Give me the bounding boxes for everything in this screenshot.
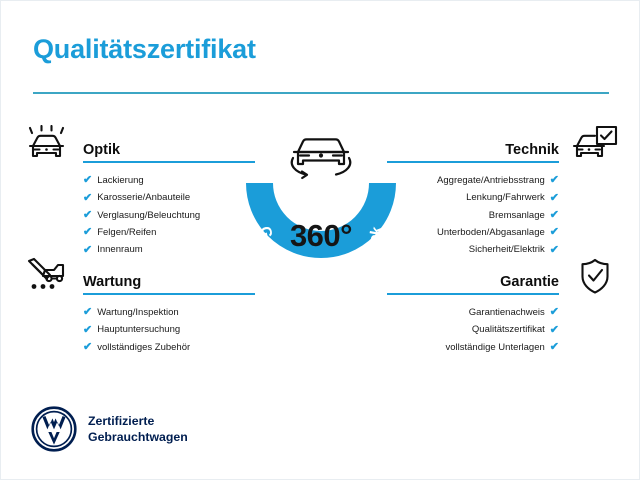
item-label: Lackierung <box>97 176 143 186</box>
list-item: ✔ Sicherheit/Elektrik <box>387 242 559 259</box>
list-item: ✔ Karosserie/Anbauteile <box>83 189 255 206</box>
item-label: Unterboden/Abgasanlage <box>437 228 545 238</box>
list-item: ✔ Aggregate/Antriebsstrang <box>387 172 559 189</box>
item-label: vollständiges Zubehör <box>97 343 190 353</box>
item-label: Lenkung/Fahrwerk <box>466 193 545 203</box>
checklist-technik: ✔ Aggregate/Antriebsstrang ✔ Lenkung/Fah… <box>387 172 619 259</box>
check-icon: ✔ <box>83 193 92 204</box>
section-divider-optik <box>83 161 255 163</box>
section-divider-technik <box>387 161 559 163</box>
check-icon: ✔ <box>550 210 559 221</box>
footer-line-1: Zertifizierte <box>88 413 188 429</box>
section-technik: Technik ✔ Aggregate/Antriebsstrang ✔ Len… <box>387 131 619 259</box>
item-label: Bremsanlage <box>489 211 545 221</box>
item-label: Innenraum <box>97 245 142 255</box>
check-icon: ✔ <box>550 227 559 238</box>
header-divider <box>33 92 609 94</box>
section-header-technik: Technik <box>387 131 619 165</box>
list-item: ✔ Qualitätszertifikat <box>387 321 559 338</box>
check-icon: ✔ <box>550 175 559 186</box>
check-icon: ✔ <box>83 307 92 318</box>
car-rotation-icon <box>292 139 350 178</box>
item-label: Garantienachweis <box>469 308 545 318</box>
section-title-technik: Technik <box>505 142 559 158</box>
section-garantie: Garantie ✔ Garantienachweis ✔ Qualitätsz… <box>387 263 619 356</box>
list-item: ✔ vollständiges Zubehör <box>83 339 255 356</box>
check-icon: ✔ <box>550 307 559 318</box>
item-label: Wartung/Inspektion <box>97 308 179 318</box>
section-wartung: Wartung ✔ Wartung/Inspektion ✔ Hauptunte… <box>23 263 255 356</box>
checklist-garantie: ✔ Garantienachweis ✔ Qualitätszertifikat… <box>387 304 619 356</box>
certificate-page: Qualitätszertifikat Optik <box>0 0 640 480</box>
section-title-wartung: Wartung <box>83 274 141 290</box>
list-item: ✔ Garantienachweis <box>387 304 559 321</box>
item-label: vollständige Unterlagen <box>445 343 544 353</box>
car-service-pen-icon <box>23 257 71 297</box>
list-item: ✔ Hauptuntersuchung <box>83 321 255 338</box>
check-icon: ✔ <box>83 325 92 336</box>
check-icon: ✔ <box>83 342 92 353</box>
item-label: Karosserie/Anbauteile <box>97 193 190 203</box>
checklist-optik: ✔ Lackierung ✔ Karosserie/Anbauteile ✔ V… <box>23 172 255 259</box>
shield-check-icon <box>571 257 619 297</box>
section-divider-wartung <box>83 293 255 295</box>
check-icon: ✔ <box>83 245 92 256</box>
check-icon: ✔ <box>83 210 92 221</box>
badge-360-check: Gebrauchtwagen-Check 360° <box>236 121 406 306</box>
checklist-wartung: ✔ Wartung/Inspektion ✔ Hauptuntersuchung… <box>23 304 255 356</box>
check-icon: ✔ <box>550 325 559 336</box>
item-label: Verglasung/Beleuchtung <box>97 211 200 221</box>
footer-line-2: Gebrauchtwagen <box>88 429 188 445</box>
section-header-optik: Optik <box>23 131 255 165</box>
list-item: ✔ Innenraum <box>83 242 255 259</box>
section-title-garantie: Garantie <box>500 274 559 290</box>
check-icon: ✔ <box>550 245 559 256</box>
list-item: ✔ Felgen/Reifen <box>83 224 255 241</box>
footer-brand: Zertifizierte Gebrauchtwagen <box>31 406 188 452</box>
car-shine-icon <box>23 125 71 165</box>
item-label: Sicherheit/Elektrik <box>469 245 545 255</box>
list-item: ✔ Wartung/Inspektion <box>83 304 255 321</box>
item-label: Felgen/Reifen <box>97 228 156 238</box>
list-item: ✔ Unterboden/Abgasanlage <box>387 224 559 241</box>
footer-text: Zertifizierte Gebrauchtwagen <box>88 413 188 445</box>
volkswagen-logo <box>31 406 77 452</box>
check-icon: ✔ <box>550 193 559 204</box>
list-item: ✔ Verglasung/Beleuchtung <box>83 207 255 224</box>
section-optik: Optik ✔ Lackierung ✔ Karosserie/Anbautei… <box>23 131 255 259</box>
badge-number: 360° <box>236 218 406 254</box>
list-item: ✔ Lenkung/Fahrwerk <box>387 189 559 206</box>
list-item: ✔ vollständige Unterlagen <box>387 339 559 356</box>
car-checkbox-icon <box>571 125 619 165</box>
item-label: Hauptuntersuchung <box>97 325 180 335</box>
item-label: Aggregate/Antriebsstrang <box>437 176 545 186</box>
section-header-wartung: Wartung <box>23 263 255 297</box>
check-icon: ✔ <box>83 227 92 238</box>
section-title-optik: Optik <box>83 142 120 158</box>
section-header-garantie: Garantie <box>387 263 619 297</box>
section-divider-garantie <box>387 293 559 295</box>
list-item: ✔ Bremsanlage <box>387 207 559 224</box>
list-item: ✔ Lackierung <box>83 172 255 189</box>
page-title: Qualitätszertifikat <box>33 34 256 65</box>
item-label: Qualitätszertifikat <box>472 325 545 335</box>
check-icon: ✔ <box>550 342 559 353</box>
check-icon: ✔ <box>83 175 92 186</box>
